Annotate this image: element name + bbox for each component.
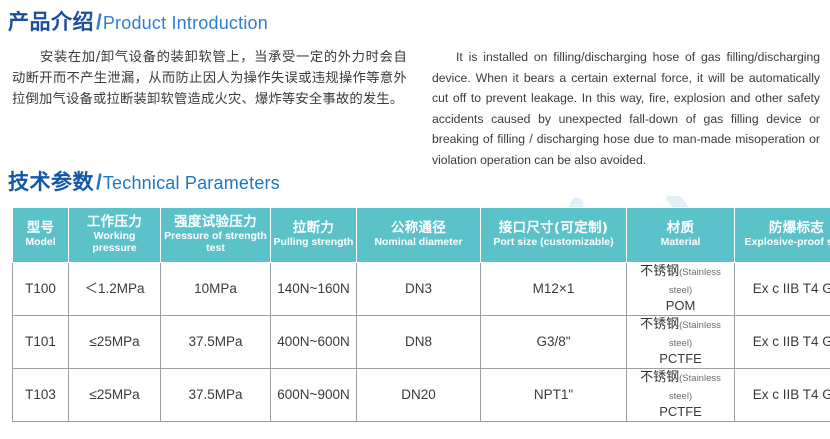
column-header-nominal-diameter: 公称通径 Nominal diameter [357,208,481,263]
cell-pulling-strength: 600N~900N [271,369,357,422]
column-header-cn: 接口尺寸(可定制) [483,221,624,236]
table-header-row: 型号 Model 工作压力 Working pressure 强度试验压力 Pr… [13,208,830,263]
material-secondary: PCTFE [629,404,732,421]
column-header-cn: 公称通径 [359,221,478,236]
cell-strength-test: 37.5MPa [161,316,271,369]
section-heading-cn: 产品介绍 [8,11,94,34]
column-header-material: 材质 Material [627,208,735,263]
column-header-en: Pressure of strength test [163,231,268,255]
cell-nominal-diameter: DN20 [357,369,481,422]
cell-material: 不锈钢(Stainless steel) PCTFE [627,316,735,369]
table-row: T101 ≤25MPa 37.5MPa 400N~600N DN8 G3/8" … [13,316,830,369]
section-heading-slash: / [96,11,102,34]
column-header-strength-test-pressure: 强度试验压力 Pressure of strength test [161,208,271,263]
material-secondary: POM [629,298,732,315]
cell-nominal-diameter: DN8 [357,316,481,369]
column-header-port-size: 接口尺寸(可定制) Port size (customizable) [481,208,627,263]
table-row: T103 ≤25MPa 37.5MPa 600N~900N DN20 NPT1"… [13,369,830,422]
cell-model: T100 [13,263,69,316]
column-header-pulling-strength: 拉断力 Pulling strength [271,208,357,263]
column-header-en: Model [15,237,66,249]
cell-port-size: G3/8" [481,316,627,369]
cell-explosive-proof-sign: Ex c IIB T4 Gb [735,263,830,316]
section-heading-slash: / [96,171,102,194]
column-header-cn: 型号 [15,221,66,236]
cell-strength-test: 10MPa [161,263,271,316]
table-row: T100 ＜1.2MPa 10MPa 140N~160N DN3 M12×1 不… [13,263,830,316]
cell-port-size: M12×1 [481,263,627,316]
cell-port-size: NPT1" [481,369,627,422]
material-name-cn: 不锈钢 [640,317,679,332]
cell-explosive-proof-sign: Ex c IIB T4 Gb [735,369,830,422]
column-header-en: Port size (customizable) [483,237,624,249]
intro-paragraph-chinese: 安装在加/卸气设备的装卸软管上，当承受一定的外力时会自动断开而不产生泄漏，从而防… [12,47,407,110]
cell-working-pressure: ≤25MPa [69,369,161,422]
cell-model: T101 [13,316,69,369]
cell-strength-test: 37.5MPa [161,369,271,422]
cell-material: 不锈钢(Stainless steel) PCTFE [627,369,735,422]
section-heading-product-introduction: 产品介绍/Product Introduction [8,12,268,33]
column-header-en: Explosive-proof sign [737,237,830,249]
material-secondary: PCTFE [629,351,732,368]
cell-pulling-strength: 140N~160N [271,263,357,316]
column-header-cn: 工作压力 [71,215,158,230]
section-heading-cn: 技术参数 [8,171,94,194]
material-name-cn: 不锈钢 [640,370,679,385]
cell-explosive-proof-sign: Ex c IIB T4 Gb [735,316,830,369]
column-header-en: Material [629,237,732,249]
column-header-cn: 材质 [629,221,732,236]
column-header-cn: 强度试验压力 [163,215,268,230]
technical-parameters-table: 型号 Model 工作压力 Working pressure 强度试验压力 Pr… [12,207,830,422]
column-header-model: 型号 Model [13,208,69,263]
intro-paragraph-english: It is installed on filling/discharging h… [432,47,820,170]
column-header-en: Pulling strength [273,237,354,249]
column-header-explosive-proof-sign: 防爆标志 Explosive-proof sign [735,208,830,263]
material-name-cn: 不锈钢 [640,264,679,279]
column-header-en: Working pressure [71,231,158,255]
cell-material: 不锈钢(Stainless steel) POM [627,263,735,316]
section-heading-en: Technical Parameters [103,173,280,193]
column-header-cn: 防爆标志 [737,221,830,236]
column-header-cn: 拉断力 [273,221,354,236]
cell-pulling-strength: 400N~600N [271,316,357,369]
column-header-working-pressure: 工作压力 Working pressure [69,208,161,263]
section-heading-en: Product Introduction [103,13,268,33]
cell-model: T103 [13,369,69,422]
column-header-en: Nominal diameter [359,237,478,249]
cell-nominal-diameter: DN3 [357,263,481,316]
section-heading-technical-parameters: 技术参数/Technical Parameters [8,172,280,193]
cell-working-pressure: ≤25MPa [69,316,161,369]
cell-working-pressure: ＜1.2MPa [69,263,161,316]
